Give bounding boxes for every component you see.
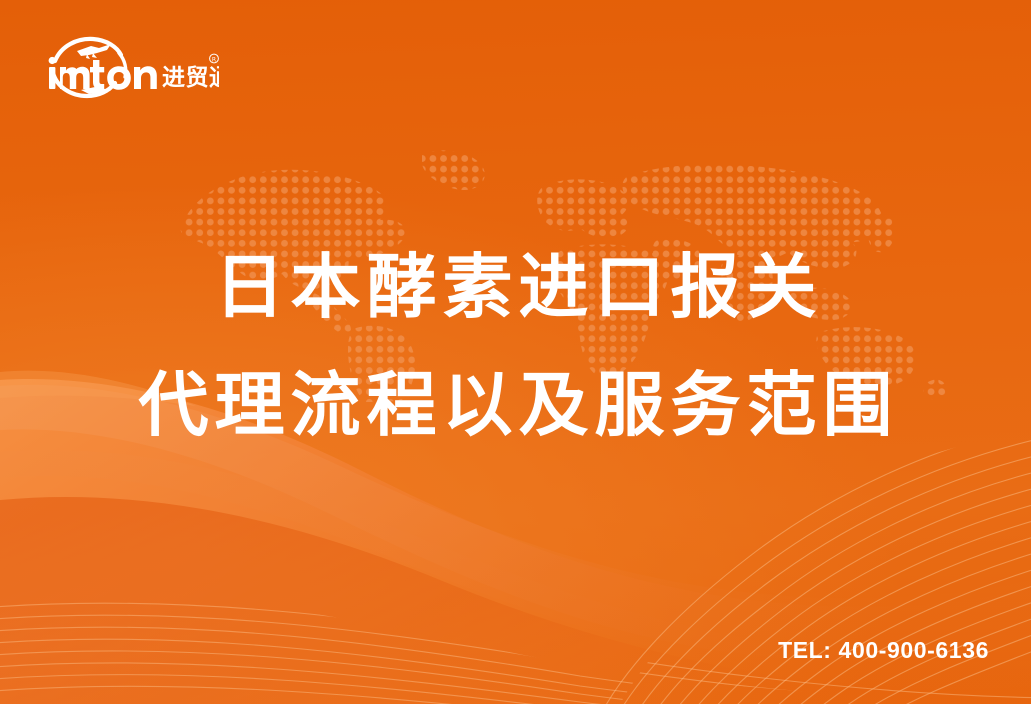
title-line-1: 日本酵素进口报关 (0, 252, 1031, 322)
registered-trademark-icon: R (210, 54, 219, 64)
logo-wordmark (49, 57, 157, 90)
contact-phone[interactable]: TEL: 400-900-6136 (778, 637, 989, 664)
page-title: 日本酵素进口报关 代理流程以及服务范围 (0, 252, 1031, 440)
poster-banner: 进贸通 R 日本酵素进口报关 代理流程以及服务范围 TEL: 400-900-6… (0, 0, 1031, 704)
airplane-icon (77, 44, 111, 59)
brand-logo[interactable]: 进贸通 R (41, 33, 219, 101)
title-line-2: 代理流程以及服务范围 (0, 370, 1031, 440)
svg-text:R: R (212, 57, 216, 64)
logo-chinese-name: 进贸通 (162, 65, 219, 91)
